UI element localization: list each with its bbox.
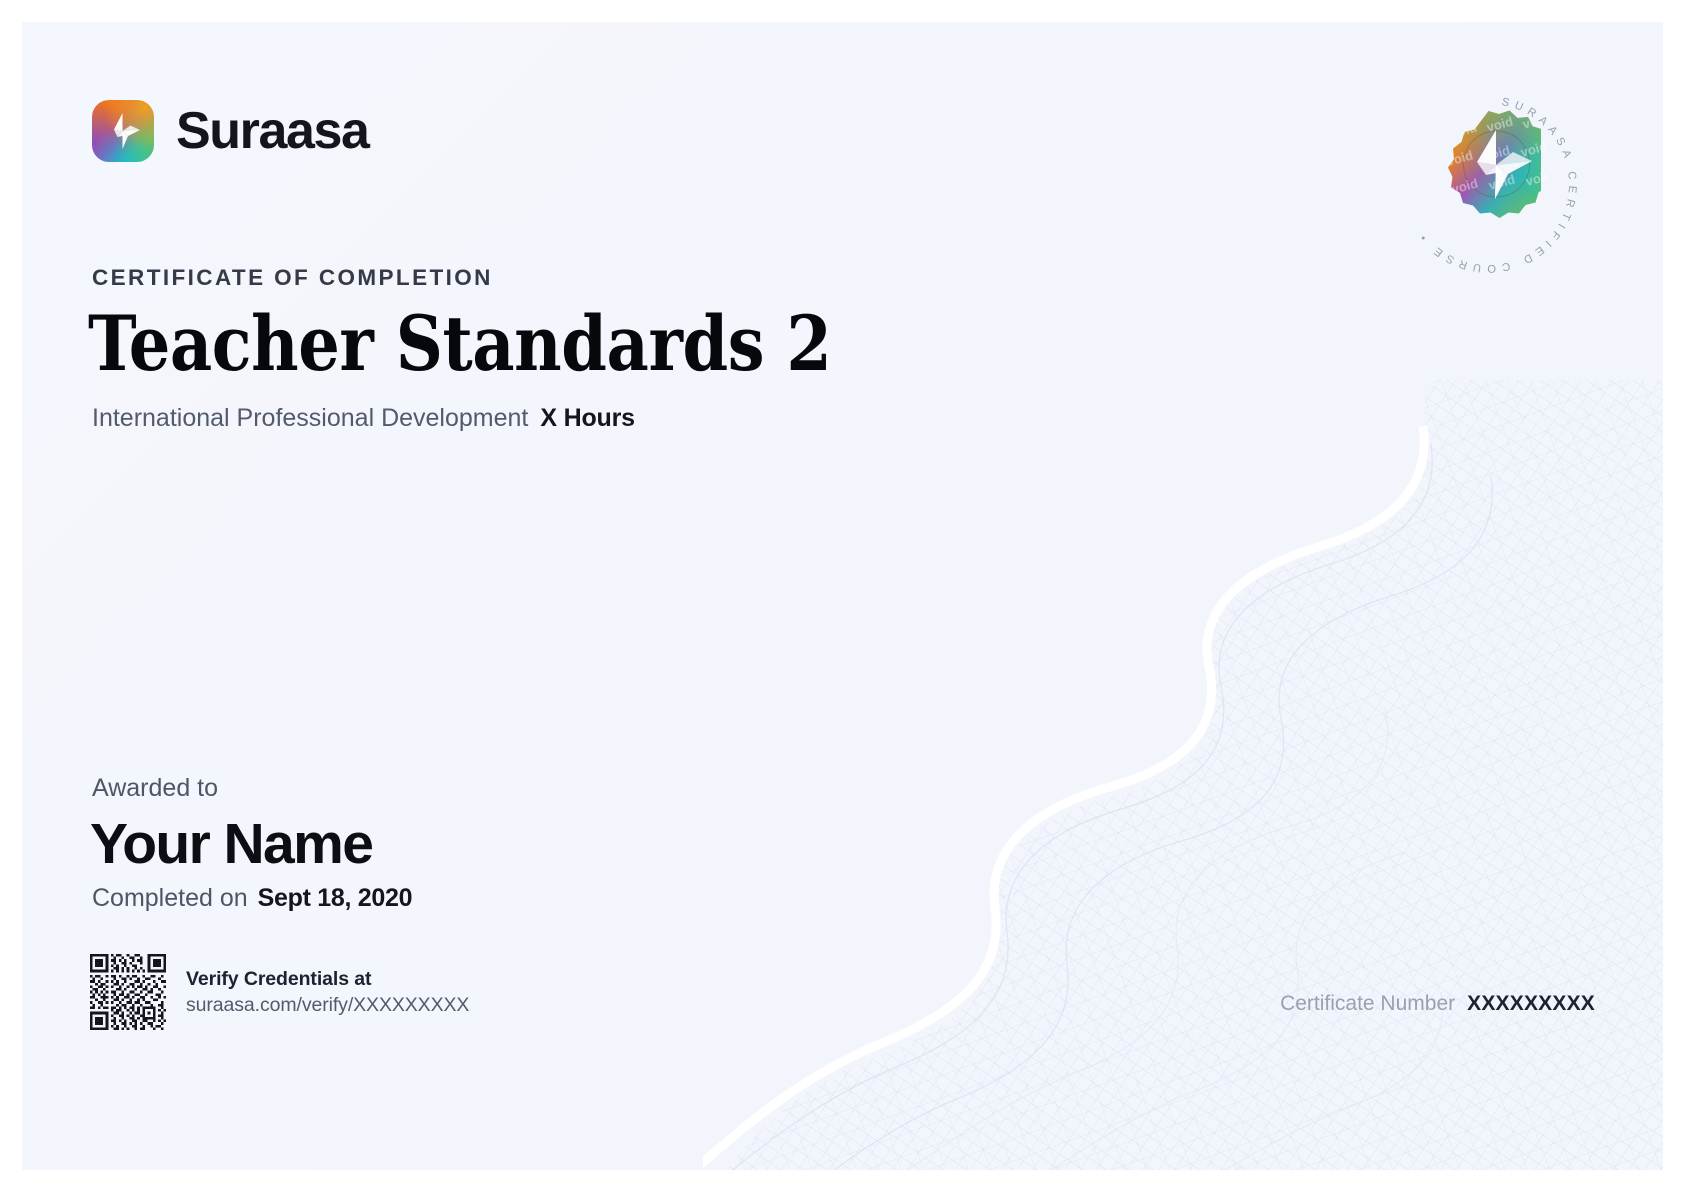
qr-code-icon[interactable] (90, 954, 166, 1030)
verify-url[interactable]: suraasa.com/verify/XXXXXXXXX (186, 992, 469, 1018)
course-subtitle: International Professional DevelopmentX … (92, 404, 635, 433)
verify-text: Verify Credentials at suraasa.com/verify… (186, 966, 469, 1018)
completion-date: Sept 18, 2020 (258, 884, 413, 912)
brand-logo-lockup: Suraasa (92, 100, 369, 162)
completion-row: Completed onSept 18, 2020 (92, 884, 412, 913)
awardee-name: Your Name (90, 810, 372, 878)
completed-on-label: Completed on (92, 884, 248, 912)
certificate-number-value: XXXXXXXXX (1467, 992, 1595, 1015)
guilloche-pattern (703, 380, 1663, 1170)
course-hours: X Hours (540, 404, 634, 432)
verify-credentials-block[interactable]: Verify Credentials at suraasa.com/verify… (90, 954, 469, 1030)
awarded-to-label: Awarded to (92, 774, 218, 803)
certified-course-seal: SURAASA CERTIFIED COURSE • void void voi… (1386, 82, 1591, 287)
certificate-number-label: Certificate Number (1280, 992, 1455, 1015)
certificate-number: Certificate NumberXXXXXXXXX (1280, 992, 1595, 1016)
certificate-canvas: Suraasa (22, 22, 1663, 1170)
suraasa-logo-icon (92, 100, 154, 162)
page-title: Teacher Standards 2 (88, 305, 831, 383)
verify-title: Verify Credentials at (186, 966, 469, 992)
page-kicker: CERTIFICATE OF COMPLETION (92, 265, 493, 291)
course-subtitle-prefix: International Professional Development (92, 404, 528, 432)
brand-name: Suraasa (176, 105, 369, 157)
